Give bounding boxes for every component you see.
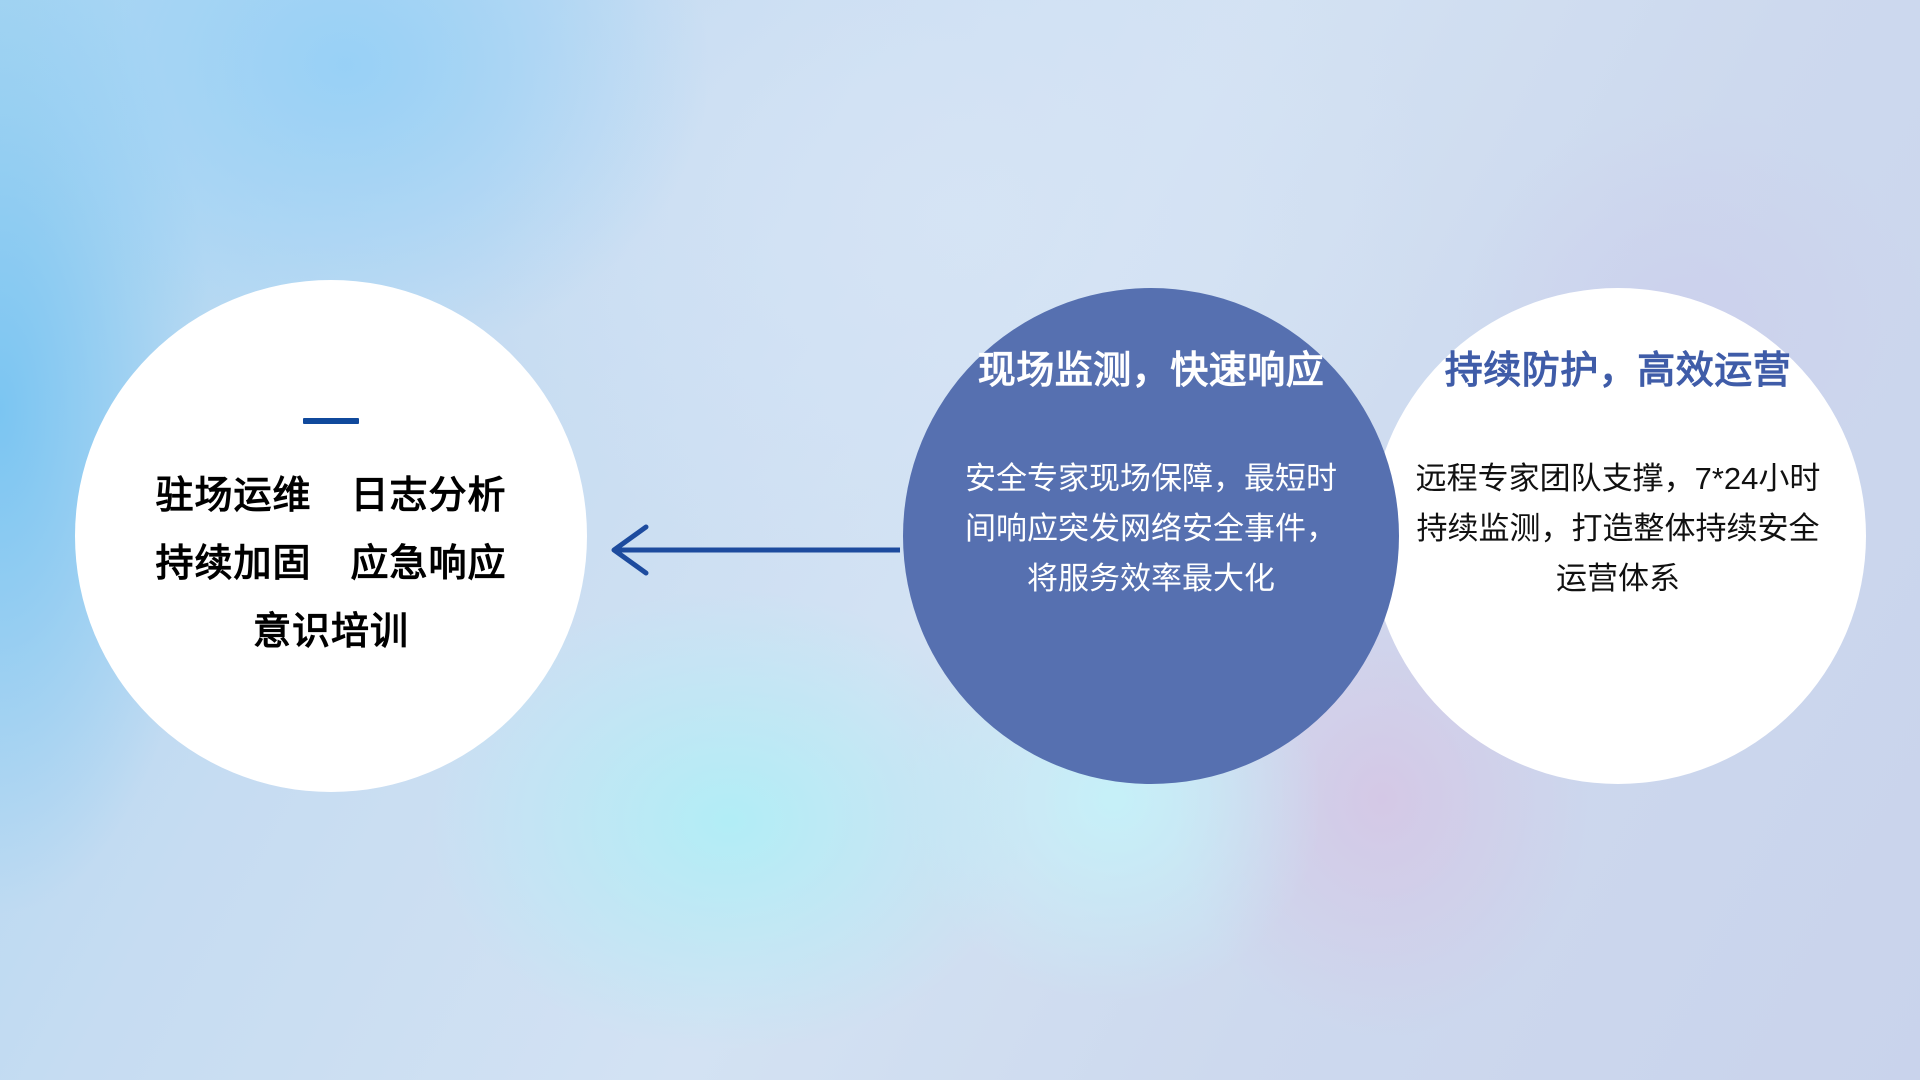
center-circle-title: 现场监测，快速响应 <box>978 350 1325 394</box>
center-monitoring-circle[interactable]: 现场监测，快速响应 安全专家现场保障，最短时间响应突发网络安全事件，将服务效率最… <box>903 288 1399 784</box>
right-circle-title: 持续防护，高效运营 <box>1445 350 1792 394</box>
accent-dash-divider <box>303 418 359 424</box>
center-circle-body: 安全专家现场保障，最短时间响应突发网络安全事件，将服务效率最大化 <box>956 454 1346 605</box>
left-capability-circle[interactable]: 驻场运维 日志分析 持续加固 应急响应 意识培训 <box>75 280 587 792</box>
slide-canvas: 驻场运维 日志分析 持续加固 应急响应 意识培训 持续防护，高效运营 远程专家团… <box>0 0 1920 1080</box>
list-item: 驻场运维 日志分析 <box>155 476 506 518</box>
list-item: 持续加固 应急响应 <box>155 544 506 586</box>
right-operations-circle[interactable]: 持续防护，高效运营 远程专家团队支撑，7*24小时持续监测，打造整体持续安全运营… <box>1370 288 1866 784</box>
right-circle-body: 远程专家团队支撑，7*24小时持续监测，打造整体持续安全运营体系 <box>1408 454 1828 605</box>
left-circle-keyword-list: 驻场运维 日志分析 持续加固 应急响应 意识培训 <box>155 476 506 653</box>
list-item: 意识培训 <box>253 612 409 654</box>
arrow-left-icon <box>600 515 900 585</box>
